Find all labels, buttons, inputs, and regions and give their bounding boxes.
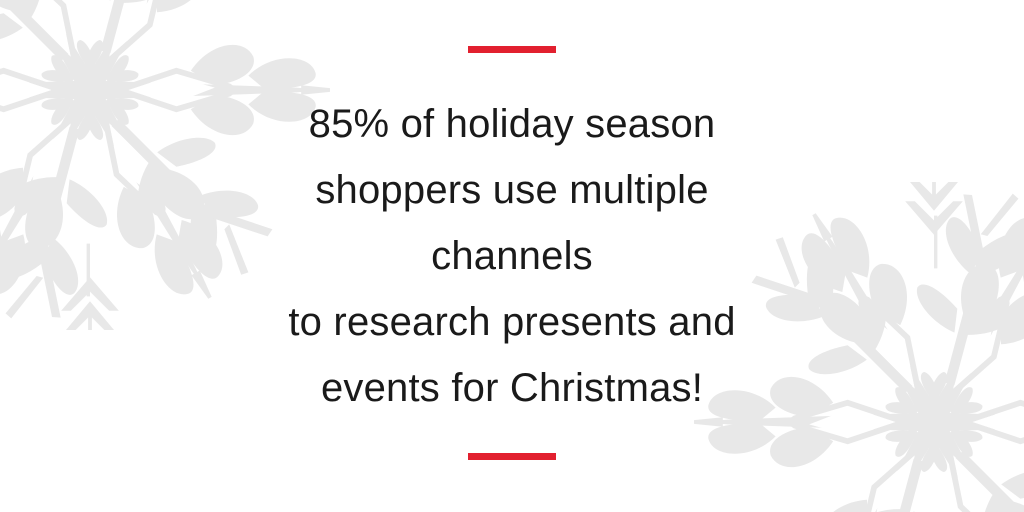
divider-bottom [468,453,556,460]
promo-poster: 85% of holiday season shoppers use multi… [0,0,1024,512]
headline: 85% of holiday season shoppers use multi… [0,91,1024,421]
headline-line-3: channels [0,223,1024,289]
divider-top [468,46,556,53]
poster-content: 85% of holiday season shoppers use multi… [0,0,1024,512]
headline-line-4: to research presents and [0,289,1024,355]
headline-line-2: shoppers use multiple [0,157,1024,223]
headline-line-5: events for Christmas! [0,355,1024,421]
headline-line-1: 85% of holiday season [0,91,1024,157]
